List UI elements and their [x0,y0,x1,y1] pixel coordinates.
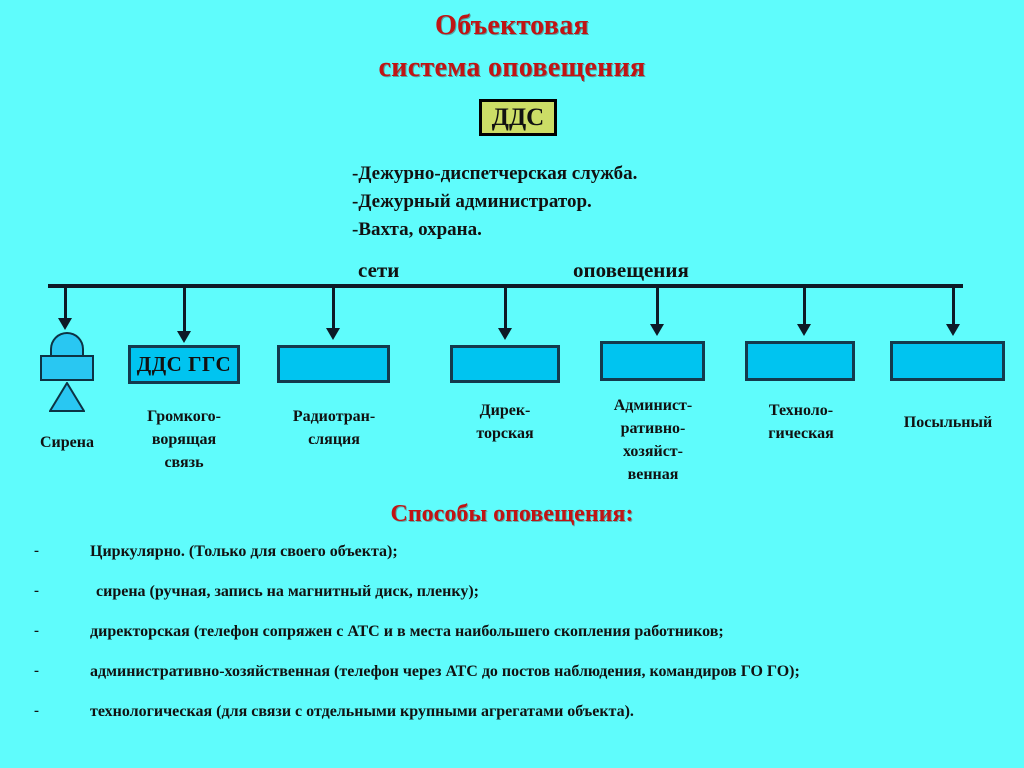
node-box-loudspeaker: ДДС ГГС [128,345,240,384]
node-box-administrative [600,341,705,381]
dds-root-box: ДДС [479,99,557,136]
slide-canvas: Объектовая система оповещения ДДС -Дежур… [0,0,1024,768]
node-box-technological [745,341,855,381]
methods-item-text: Циркулярно. (Только для своего объекта); [90,543,398,561]
node-box-messenger [890,341,1005,381]
node-caption-messenger: Посыльный [885,411,1011,434]
branch-line-5 [656,286,659,324]
methods-list-item: - Циркулярно. (Только для своего объекта… [34,543,1004,583]
node-caption-radio-broadcast: Радиотран- сляция [272,405,396,451]
methods-list: - Циркулярно. (Только для своего объекта… [34,543,1004,743]
siren-dome-shape [50,332,84,356]
methods-dash: - [34,583,90,600]
dds-description-list: -Дежурно-диспетчерская служба. -Дежурный… [352,160,772,244]
methods-list-item: - сирена (ручная, запись на магнитный ди… [34,583,1004,623]
branch-arrow-5 [650,324,664,336]
methods-dash: - [34,703,90,720]
dds-description-item: -Дежурный администратор. [352,188,772,216]
dds-description-item: -Дежурно-диспетчерская служба. [352,160,772,188]
siren-icon [36,332,98,420]
branch-line-1 [64,286,67,318]
bar-caption-networks: сети [358,258,399,283]
node-caption-siren: Сирена [20,431,114,454]
branch-arrow-7 [946,324,960,336]
methods-dash: - [34,623,90,640]
methods-item-text: административно-хозяйственная (телефон ч… [90,663,800,681]
branch-line-2 [183,286,186,331]
siren-tripod-shape [49,382,85,412]
branch-arrow-2 [177,331,191,343]
branch-line-3 [332,286,335,328]
branch-arrow-4 [498,328,512,340]
branch-arrow-1 [58,318,72,330]
siren-body-shape [40,355,94,381]
branch-line-6 [803,286,806,324]
branch-line-7 [952,286,955,324]
methods-item-text: сирена (ручная, запись на магнитный диск… [90,583,479,601]
node-caption-loudspeaker: Громкого- ворящая связь [122,405,246,474]
methods-item-text: директорская (телефон сопряжен с АТС и в… [90,623,724,641]
node-box-radio-broadcast [277,345,390,383]
methods-list-item: - административно-хозяйственная (телефон… [34,663,1004,703]
methods-dash: - [34,543,90,560]
branch-arrow-3 [326,328,340,340]
node-caption-director: Дирек- торская [445,399,565,445]
methods-list-item: - директорская (телефон сопряжен с АТС и… [34,623,1004,663]
branch-arrow-6 [797,324,811,336]
node-caption-administrative: Админист- ративно- хозяйст- венная [597,394,709,486]
branch-line-4 [504,286,507,328]
methods-item-text: технологическая (для связи с отдельными … [90,703,634,721]
dds-description-item: -Вахта, охрана. [352,216,772,244]
methods-list-item: - технологическая (для связи с отдельным… [34,703,1004,743]
page-title-line-2: система оповещения [0,52,1024,84]
node-box-director [450,345,560,383]
methods-dash: - [34,663,90,680]
methods-section-title: Способы оповещения: [0,501,1024,528]
node-caption-technological: Техноло- гическая [742,399,860,445]
bar-caption-notification: оповещения [573,258,689,283]
page-title-line-1: Объектовая [0,10,1024,42]
